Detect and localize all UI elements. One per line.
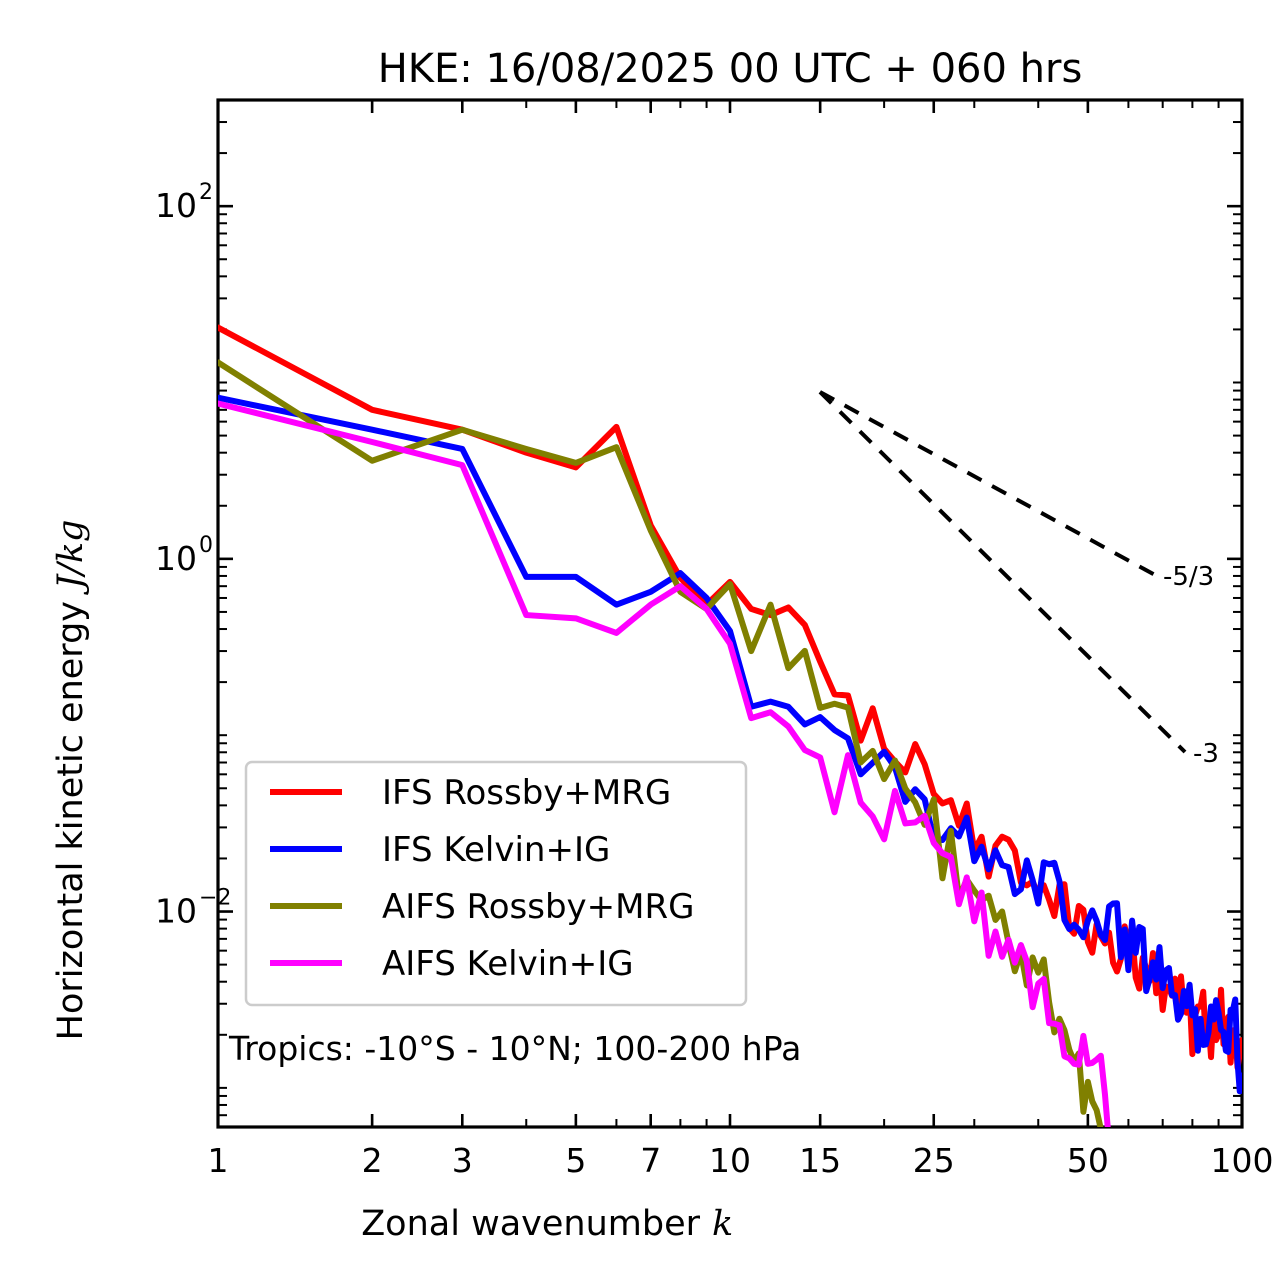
x-tick-label: 2 [362, 1141, 383, 1180]
legend-label[interactable]: AIFS Kelvin+IG [382, 944, 634, 984]
svg-text:10: 10 [155, 186, 197, 225]
y-axis-label-symbol: J/kg [51, 520, 91, 595]
slope-reference-label: -5/3 [1163, 562, 1214, 592]
x-axis-label-text: Zonal wavenumber [361, 1204, 700, 1244]
legend-label[interactable]: IFS Kelvin+IG [382, 830, 610, 870]
svg-text:10: 10 [155, 539, 197, 578]
svg-text:2: 2 [199, 180, 213, 205]
y-tick-label: 100 [155, 533, 213, 578]
x-tick-label: 50 [1067, 1141, 1109, 1180]
x-tick-label: 10 [709, 1141, 751, 1180]
x-tick-label: 25 [913, 1141, 955, 1180]
x-tick-label: 15 [799, 1141, 841, 1180]
x-tick-label: 5 [565, 1141, 586, 1180]
spectrum-chart: HKE: 16/08/2025 00 UTC + 060 hrs 1235710… [0, 0, 1280, 1288]
y-tick-label: 10−2 [155, 886, 231, 931]
y-axis-label: Horizontal kinetic energy J/kg [51, 520, 91, 1041]
data-series-group [218, 328, 1242, 1144]
slope-reference-group: -5/3-3 [820, 392, 1219, 769]
svg-text:0: 0 [199, 533, 213, 558]
slope-reference-line-3 [820, 392, 1185, 752]
x-tick-label: 7 [640, 1141, 661, 1180]
x-axis-tick-labels: 1235710152550100 [208, 1141, 1274, 1180]
series-line-aifs-rossby-mrg [218, 362, 1101, 1129]
x-tick-label: 100 [1211, 1141, 1274, 1180]
svg-text:−2: −2 [199, 886, 231, 911]
chart-legend[interactable]: IFS Rossby+MRGIFS Kelvin+IGAIFS Rossby+M… [246, 762, 746, 1005]
slope-reference-label: -3 [1193, 739, 1219, 769]
y-axis-tick-labels: 10210010−2 [155, 180, 231, 930]
x-axis-label-symbol: k [712, 1204, 733, 1244]
y-tick-label: 102 [155, 180, 213, 225]
y-axis-label-text: Horizontal kinetic energy [51, 601, 91, 1040]
figure-container: HKE: 16/08/2025 00 UTC + 060 hrs 1235710… [0, 0, 1280, 1288]
legend-label[interactable]: IFS Rossby+MRG [382, 773, 671, 813]
svg-text:10: 10 [155, 892, 197, 931]
x-tick-label: 3 [452, 1141, 473, 1180]
region-annotation: Tropics: -10°S - 10°N; 100-200 hPa [228, 1029, 801, 1068]
chart-title: HKE: 16/08/2025 00 UTC + 060 hrs [378, 46, 1083, 92]
legend-label[interactable]: AIFS Rossby+MRG [382, 887, 694, 927]
x-axis-label: Zonal wavenumber k [361, 1204, 733, 1244]
x-tick-label: 1 [208, 1141, 229, 1180]
slope-reference-line-5-3 [820, 392, 1155, 575]
